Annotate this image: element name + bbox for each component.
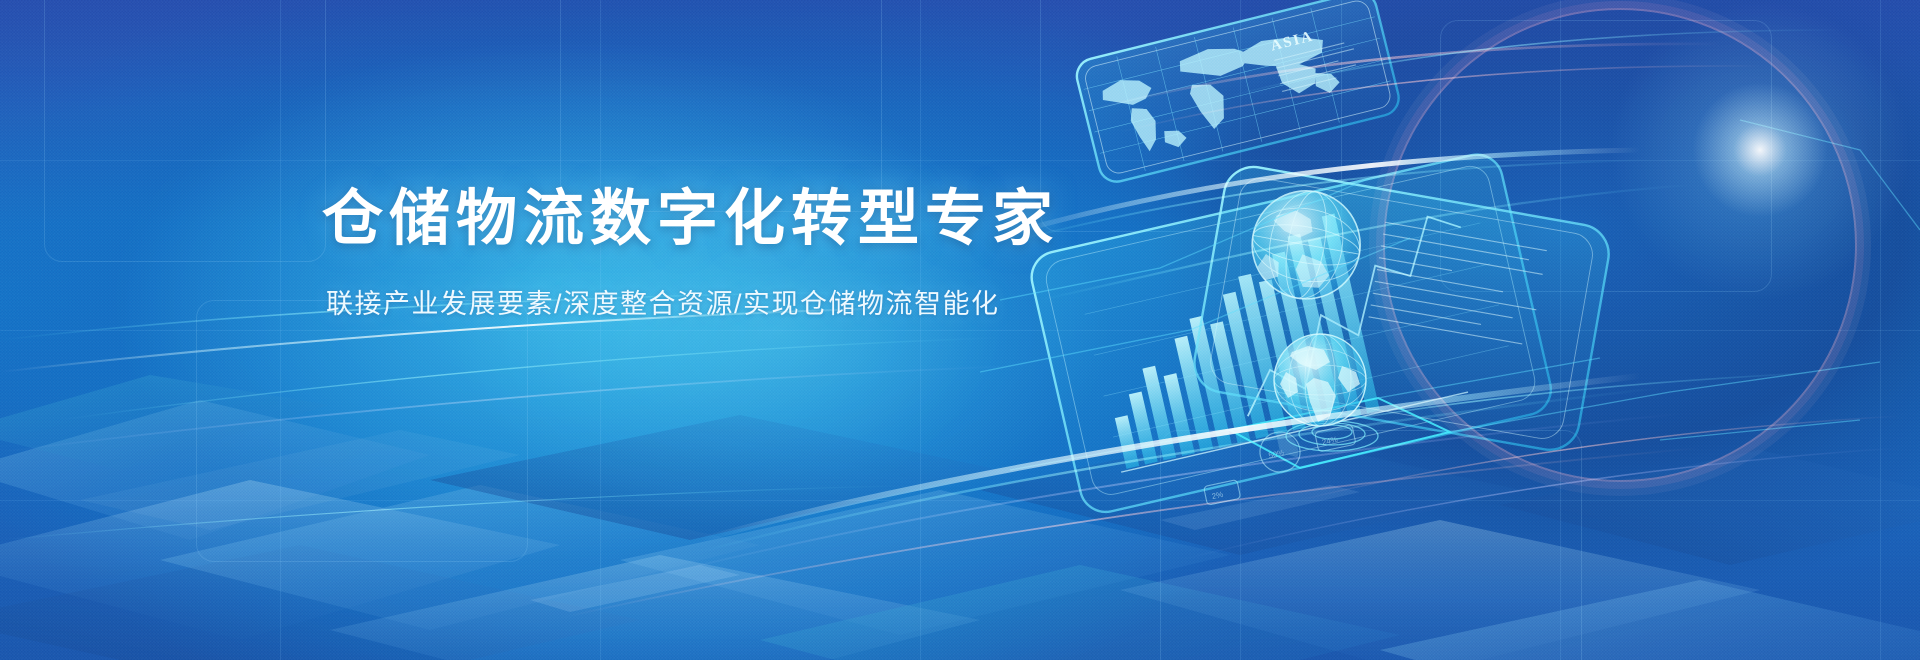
speckle-overlay — [0, 0, 1920, 660]
banner-subheadline: 联接产业发展要素/深度整合资源/实现仓储物流智能化 — [326, 282, 1222, 321]
hero-banner: ASIA — [0, 0, 1920, 660]
banner-copy-block: 仓储物流数字化转型专家 联接产业发展要素/深度整合资源/实现仓储物流智能化 — [322, 186, 1222, 321]
banner-headline: 仓储物流数字化转型专家 — [322, 186, 1222, 252]
